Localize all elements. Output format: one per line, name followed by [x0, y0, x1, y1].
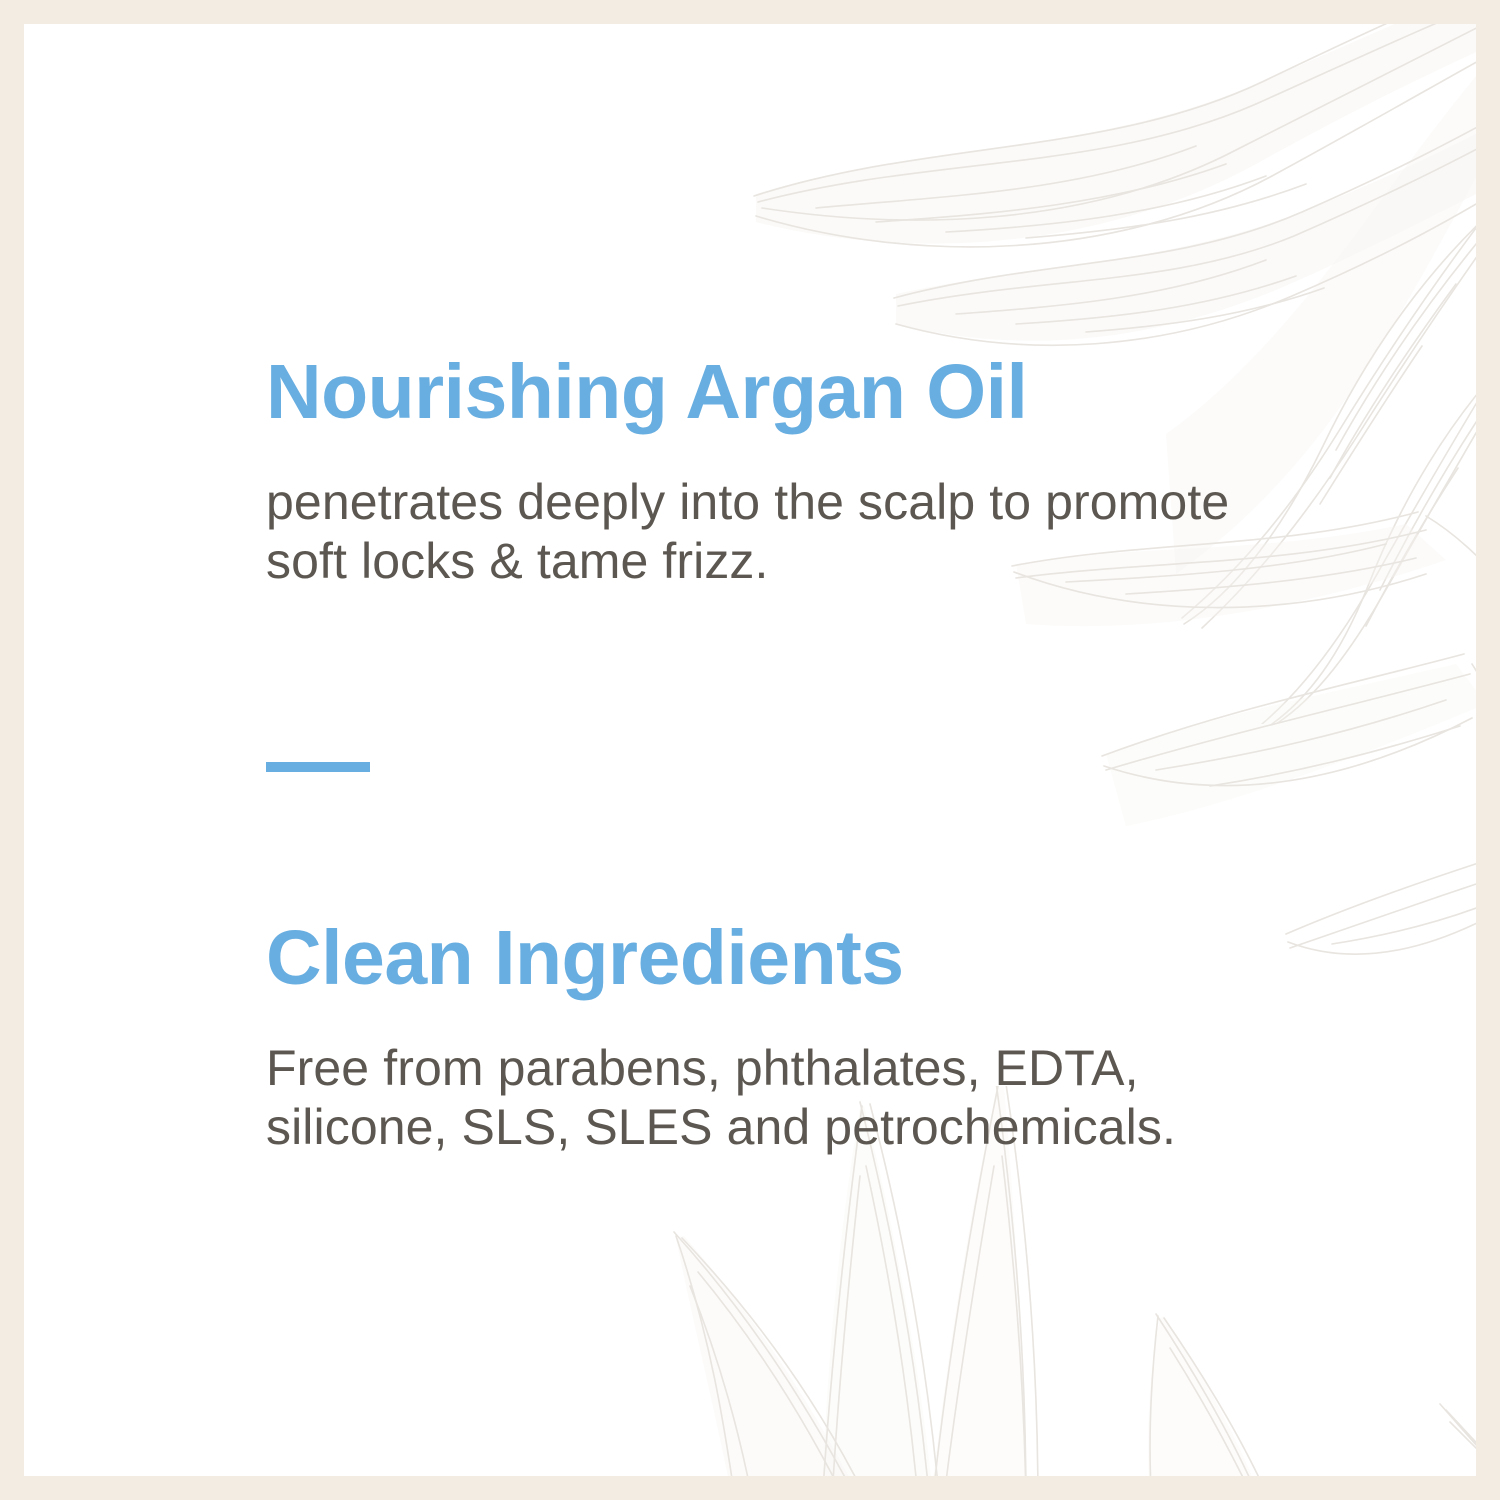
section-body-clean-ingredients: Free from parabens, phthalates, EDTA, si… — [266, 997, 1276, 1156]
section-divider — [266, 762, 370, 772]
product-benefits-card: Nourishing Argan Oil penetrates deeply i… — [0, 0, 1500, 1500]
content-column: Nourishing Argan Oil penetrates deeply i… — [266, 24, 1276, 1476]
body-line: penetrates deeply into the scalp to prom… — [266, 473, 1276, 532]
body-line: Free from parabens, phthalates, EDTA, — [266, 1039, 1276, 1098]
section-heading-clean-ingredients: Clean Ingredients — [266, 920, 1276, 997]
benefit-section-argan-oil: Nourishing Argan Oil penetrates deeply i… — [266, 354, 1276, 590]
card-surface: Nourishing Argan Oil penetrates deeply i… — [24, 24, 1476, 1476]
divider-rule — [266, 762, 370, 772]
section-heading-argan-oil: Nourishing Argan Oil — [266, 354, 1276, 431]
section-body-argan-oil: penetrates deeply into the scalp to prom… — [266, 431, 1276, 590]
benefit-section-clean-ingredients: Clean Ingredients Free from parabens, ph… — [266, 920, 1276, 1156]
body-line: silicone, SLS, SLES and petrochemicals. — [266, 1098, 1276, 1157]
body-line: soft locks & tame frizz. — [266, 532, 1276, 591]
